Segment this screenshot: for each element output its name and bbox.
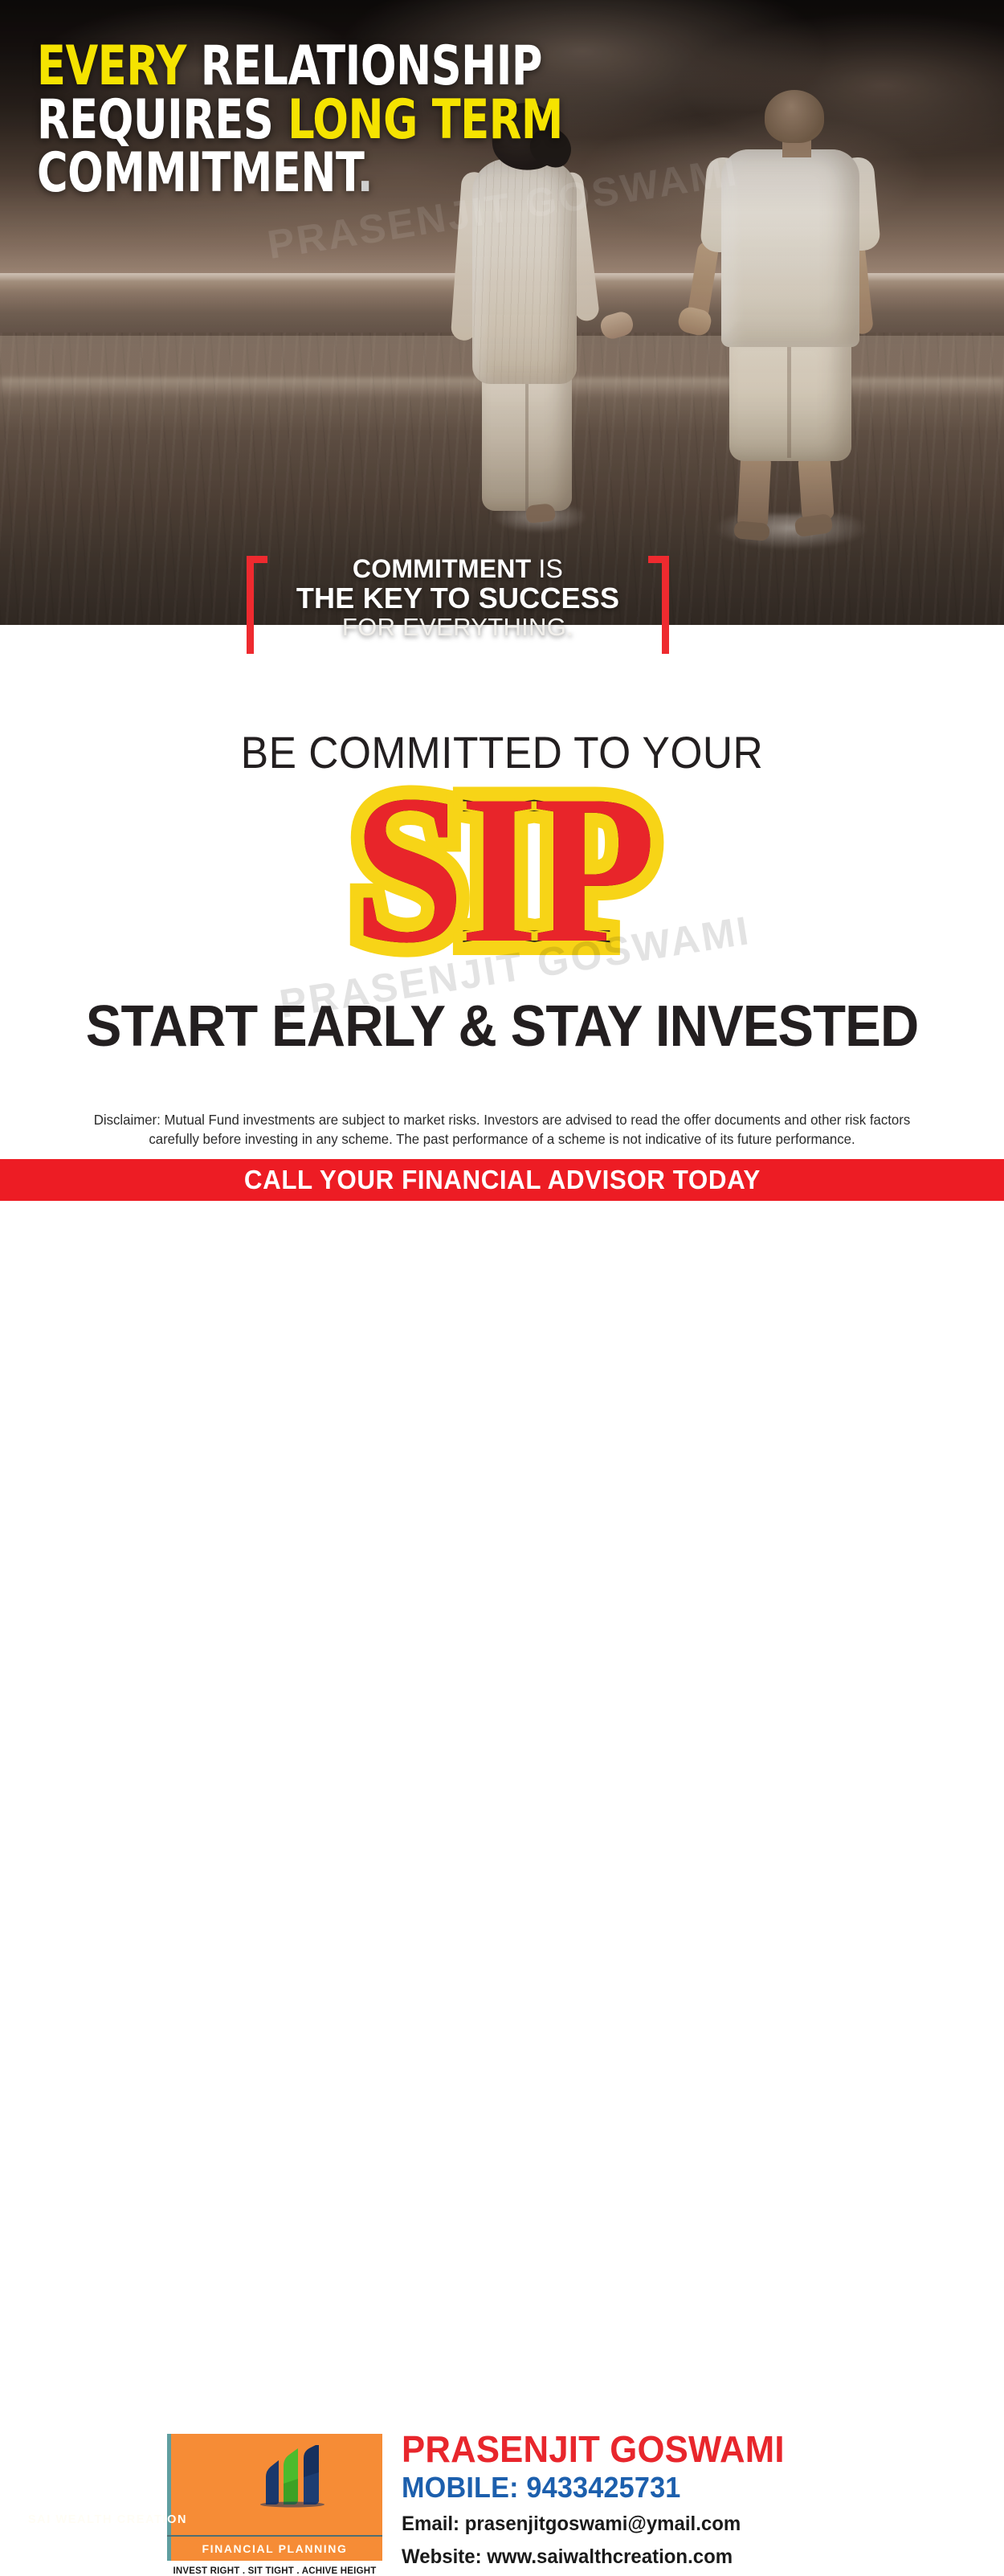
- headline-line-3: COMMITMENT.: [37, 147, 563, 201]
- hero-headline: EVERY RELATIONSHIP REQUIRES LONG TERM CO…: [37, 40, 563, 201]
- quote-line-3: FOR EVERYTHING.: [245, 614, 671, 642]
- cta-banner[interactable]: CALL YOUR FINANCIAL ADVISOR TODAY: [0, 1159, 1004, 1201]
- left-bracket-icon: [247, 556, 267, 654]
- footer-section: SAI WEALTH CREATION FINANCIAL PLANNING I…: [0, 1201, 1004, 1406]
- ascending-bars-icon: [171, 2445, 386, 2508]
- sip-logo-wrap: SIP: [0, 770, 1004, 970]
- logo-company-wrap: SAI WEALTH CREATION: [0, 2513, 215, 2526]
- quote-line-1: COMMITMENT IS: [245, 556, 671, 583]
- advisor-email[interactable]: Email: prasenjitgoswami@ymail.com: [402, 2512, 880, 2537]
- sip-logo: SIP: [353, 764, 651, 977]
- headline-line3-rest: COMMITMENT: [37, 141, 357, 205]
- logo-divider: [167, 2535, 382, 2537]
- headline-line-2: REQUIRES LONG TERM: [37, 94, 563, 148]
- logo-bars-icon: [171, 2445, 386, 2506]
- main-tagline: START EARLY & STAY INVESTED: [35, 994, 969, 1059]
- quote-line1-light: IS: [531, 554, 563, 583]
- cta-label: CALL YOUR FINANCIAL ADVISOR TODAY: [243, 1165, 760, 1195]
- quote-line-2: THE KEY TO SUCCESS: [245, 583, 671, 614]
- advisor-website[interactable]: Website: www.saiwalthcreation.com: [402, 2545, 880, 2570]
- logo-division-name: FINANCIAL PLANNING: [167, 2542, 382, 2555]
- advisor-mobile[interactable]: MOBILE: 9433425731: [402, 2472, 875, 2504]
- headline-line-1: EVERY RELATIONSHIP: [37, 40, 563, 94]
- contact-block: PRASENJIT GOSWAMI MOBILE: 9433425731 Ema…: [402, 2430, 900, 2570]
- logo-tagline: INVEST RIGHT . SIT TIGHT . ACHIVE HEIGHT: [167, 2566, 382, 2576]
- headline-period: .: [357, 141, 373, 205]
- disclaimer-text: Disclaimer: Mutual Fund investments are …: [89, 1110, 914, 1149]
- advisor-name: PRASENJIT GOSWAMI: [402, 2430, 875, 2469]
- logo-company-name: SAI WEALTH CREATION: [0, 2513, 215, 2526]
- quote-line1-strong: COMMITMENT: [353, 554, 531, 583]
- right-bracket-icon: [648, 556, 669, 654]
- hero-quote-block: COMMITMENT IS THE KEY TO SUCCESS FOR EVE…: [245, 556, 671, 668]
